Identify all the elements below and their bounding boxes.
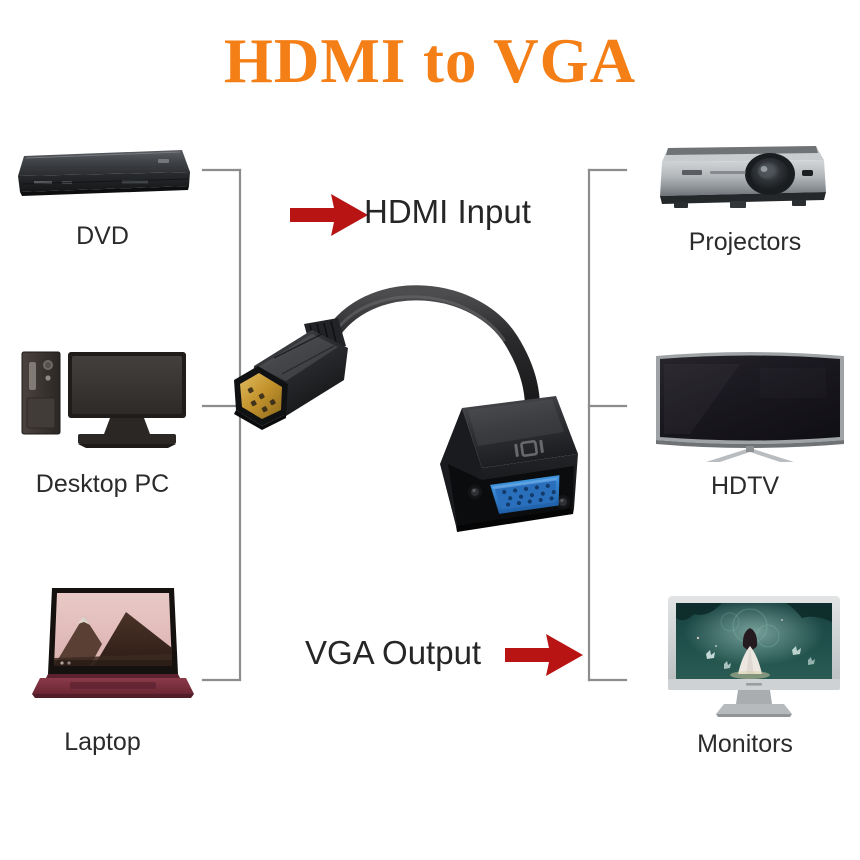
hdmi-to-vga-adapter: [226, 268, 586, 568]
hdtv-icon: [650, 348, 850, 464]
laptop-caption: Laptop: [0, 728, 205, 757]
hdtv-caption: HDTV: [632, 472, 858, 501]
hdmi-input-arrow-icon: [290, 192, 368, 238]
vga-output-arrow-icon: [505, 632, 583, 678]
laptop-icon: [28, 582, 198, 706]
desktop-pc-caption: Desktop PC: [0, 470, 205, 499]
right-bracket: [589, 170, 626, 680]
vga-output-label: VGA Output: [305, 634, 481, 672]
dvd-player-icon: [10, 142, 196, 204]
hdmi-male-plug: [234, 318, 348, 430]
monitor-caption: Monitors: [632, 730, 858, 759]
projector-caption: Projectors: [632, 228, 858, 257]
vga-female-port: [440, 396, 578, 532]
dvd-caption: DVD: [0, 222, 205, 251]
adapter-cable: [334, 293, 533, 418]
desktop-pc-icon: [8, 338, 198, 458]
hdmi-input-label: HDMI Input: [364, 193, 531, 231]
infographic-canvas: HDMI to VGA HDMI Input VGA Output: [0, 0, 860, 860]
projector-icon: [652, 140, 834, 216]
monitor-icon: [664, 592, 844, 720]
